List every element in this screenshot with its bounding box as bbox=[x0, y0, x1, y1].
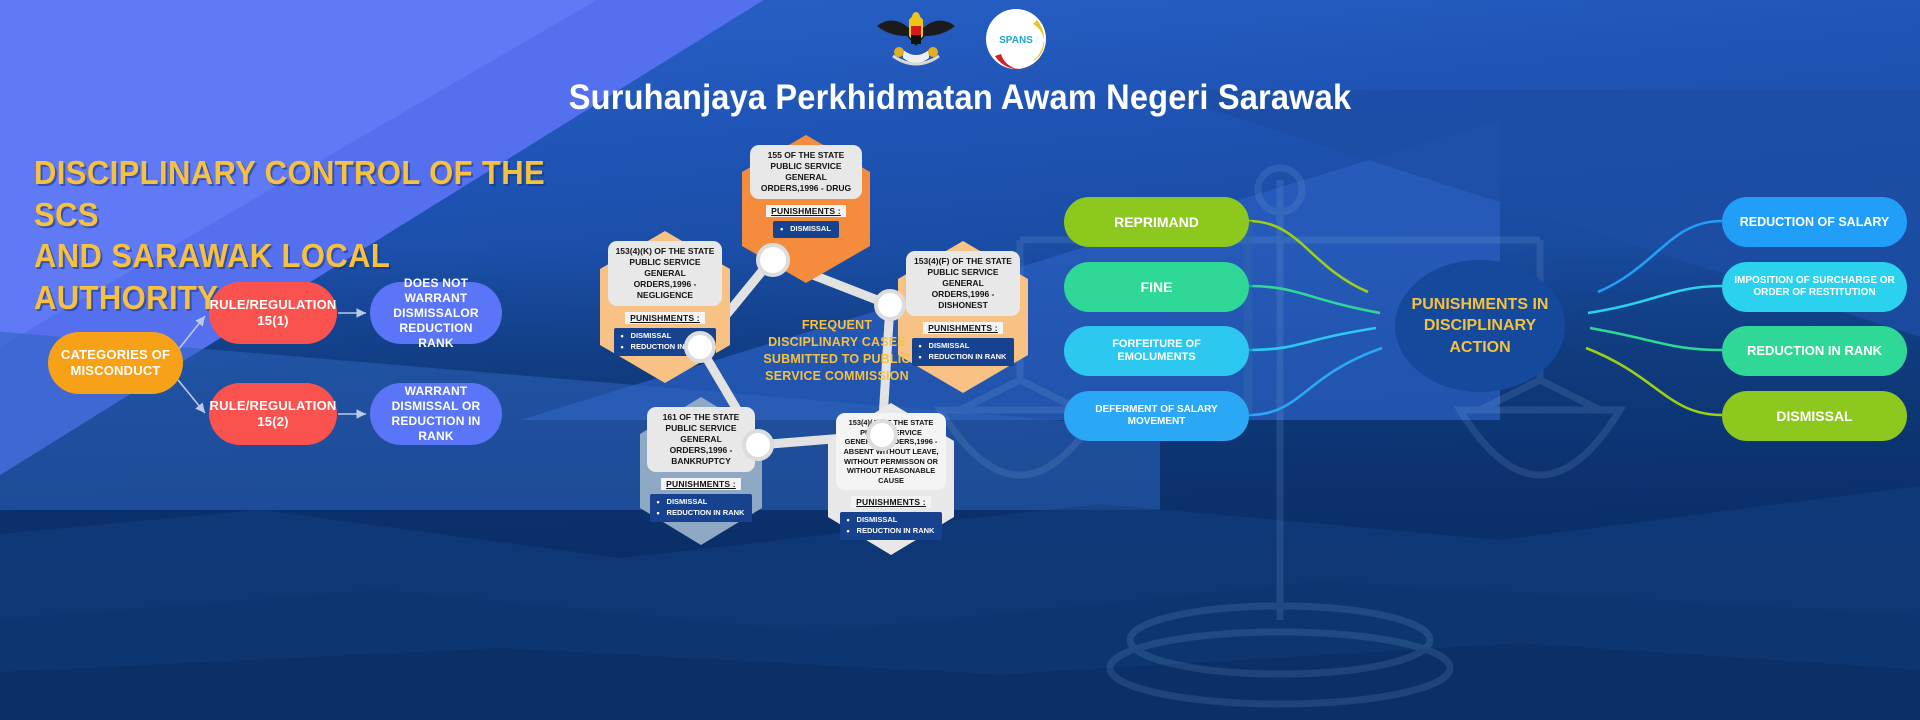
flow-node-outcome-no-dismissal[interactable]: DOES NOT WARRANT DISMISSALOR REDUCTION R… bbox=[370, 282, 502, 344]
sarawak-coat-of-arms-icon bbox=[873, 6, 959, 72]
hex-punishments-label-negligence: PUNISHMENTS : bbox=[625, 312, 705, 324]
hex-citation-drug: 155 OF THE STATE PUBLIC SERVICE GENERAL … bbox=[750, 145, 863, 199]
hex-case-dishonest[interactable]: 153(4)(F) OF THE STATE PUBLIC SERVICE GE… bbox=[898, 241, 1028, 393]
hex-punishment-item: REDUCTION IN RANK bbox=[656, 508, 745, 519]
mindmap-item-fine[interactable]: FINE bbox=[1064, 262, 1249, 312]
mindmap-item-reduction-in-rank[interactable]: REDUCTION IN RANK bbox=[1722, 326, 1907, 376]
hex-citation-dishonest: 153(4)(F) OF THE STATE PUBLIC SERVICE GE… bbox=[906, 251, 1020, 316]
infographic-canvas: SPANS Suruhanjaya Perkhidmatan Awam Nege… bbox=[0, 0, 1920, 720]
hexmap-center-label: FREQUENT DISCIPLINARY CASES SUBMITTED TO… bbox=[762, 317, 912, 385]
spans-logo-text: SPANS bbox=[999, 35, 1033, 46]
page-title: Suruhanjaya Perkhidmatan Awam Negeri Sar… bbox=[67, 78, 1853, 118]
hex-punishment-item: DISMISSAL bbox=[656, 497, 745, 508]
misconduct-flowchart: CATEGORIES OF MISCONDUCT RULE/REGULATION… bbox=[0, 270, 560, 470]
hex-punishments-label-absent: PUNISHMENTS : bbox=[851, 496, 931, 508]
flow-node-outcome-dismissal[interactable]: WARRANT DISMISSAL OR REDUCTION IN RANK bbox=[370, 383, 502, 445]
spans-logo-icon: SPANS bbox=[985, 8, 1047, 70]
hex-citation-bankruptcy: 161 OF THE STATE PUBLIC SERVICE GENERAL … bbox=[647, 407, 754, 472]
mindmap-hub: PUNISHMENTS IN DISCIPLINARY ACTION bbox=[1395, 260, 1565, 392]
hexmap-node-left bbox=[684, 331, 716, 363]
mindmap-item-reduction-of-salary[interactable]: REDUCTION OF SALARY bbox=[1722, 197, 1907, 247]
hex-punishments-label-drug: PUNISHMENTS : bbox=[766, 205, 846, 217]
hex-case-negligence[interactable]: 153(4)(K) OF THE STATE PUBLIC SERVICE GE… bbox=[600, 231, 730, 383]
mindmap-item-deferment-of-salary-movement[interactable]: DEFERMENT OF SALARY MOVEMENT bbox=[1064, 391, 1249, 441]
logo-row: SPANS bbox=[873, 6, 1047, 72]
hex-case-bankruptcy[interactable]: 161 OF THE STATE PUBLIC SERVICE GENERAL … bbox=[640, 397, 762, 545]
hex-punishment-list-dishonest: DISMISSAL REDUCTION IN RANK bbox=[912, 338, 1015, 366]
flow-node-categories-of-misconduct[interactable]: CATEGORIES OF MISCONDUCT bbox=[48, 332, 183, 394]
hex-punishment-list-absent: DISMISSAL REDUCTION IN RANK bbox=[840, 512, 943, 540]
main-heading-line-1: DISCIPLINARY CONTROL OF THE SCS bbox=[34, 152, 560, 235]
flow-node-rule-15-1[interactable]: RULE/REGULATION 15(1) bbox=[209, 282, 337, 344]
hex-citation-negligence: 153(4)(K) OF THE STATE PUBLIC SERVICE GE… bbox=[608, 241, 722, 306]
hex-punishments-label-bankruptcy: PUNISHMENTS : bbox=[661, 478, 741, 490]
punishments-mindmap: REPRIMAND FINE FORFEITURE OF EMOLUMENTS … bbox=[1050, 180, 1920, 470]
hexmap-node-top bbox=[756, 243, 790, 277]
hex-punishment-item: DISMISSAL bbox=[846, 515, 935, 526]
hex-punishment-list-bankruptcy: DISMISSAL REDUCTION IN RANK bbox=[650, 494, 753, 522]
hex-punishment-item: REDUCTION IN RANK bbox=[918, 352, 1007, 363]
flow-node-rule-15-2[interactable]: RULE/REGULATION 15(2) bbox=[209, 383, 337, 445]
hex-punishment-item: REDUCTION IN RANK bbox=[846, 526, 935, 537]
hex-punishment-item: DISMISSAL bbox=[779, 224, 831, 235]
hex-punishment-item: DISMISSAL bbox=[918, 341, 1007, 352]
mindmap-item-imposition-of-surcharge[interactable]: IMPOSITION OF SURCHARGE OR ORDER OF REST… bbox=[1722, 262, 1907, 312]
hexmap-node-bottom-left bbox=[742, 429, 774, 461]
mindmap-item-forfeiture-of-emoluments[interactable]: FORFEITURE OF EMOLUMENTS bbox=[1064, 326, 1249, 376]
hex-punishments-label-dishonest: PUNISHMENTS : bbox=[923, 322, 1003, 334]
mindmap-item-dismissal[interactable]: DISMISSAL bbox=[1722, 391, 1907, 441]
hexmap-node-bottom-right bbox=[866, 419, 898, 451]
frequent-cases-hexmap: 155 OF THE STATE PUBLIC SERVICE GENERAL … bbox=[560, 135, 1040, 555]
hex-punishment-list-drug: DISMISSAL bbox=[773, 221, 839, 238]
mindmap-item-reprimand[interactable]: REPRIMAND bbox=[1064, 197, 1249, 247]
